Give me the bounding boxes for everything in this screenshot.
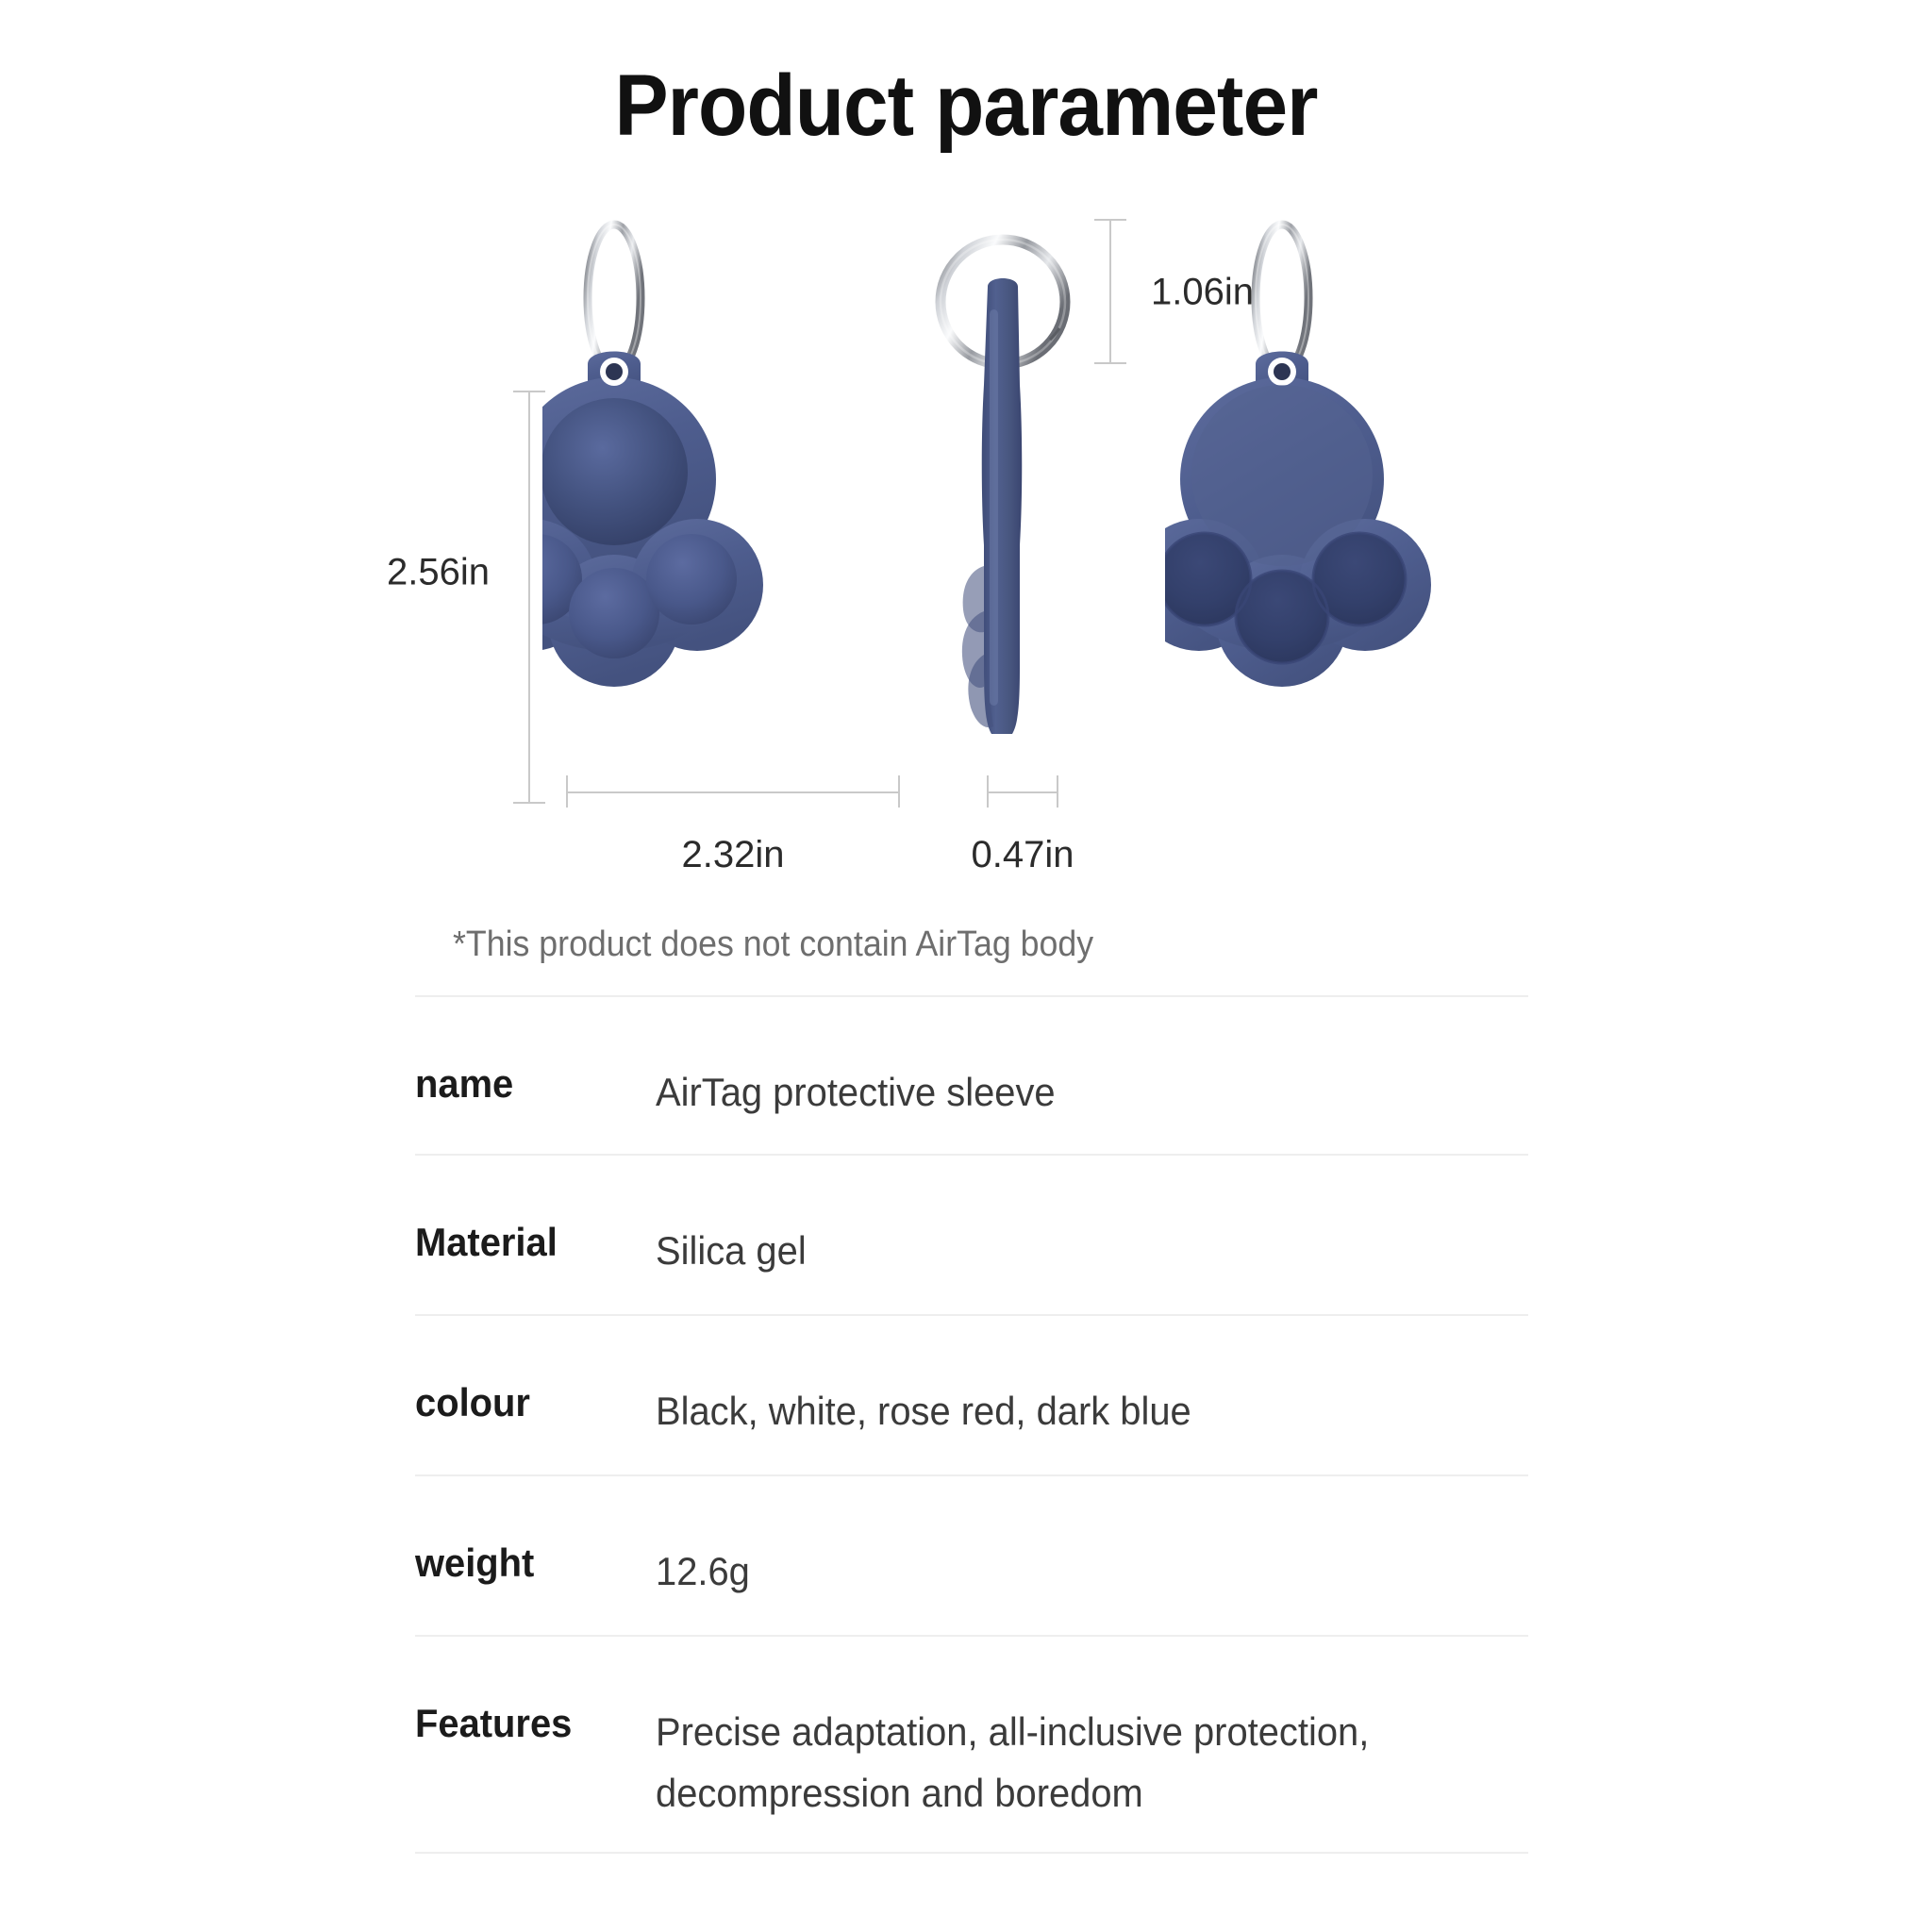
width-dim-label: 2.32in (682, 834, 785, 876)
case-profile-side (962, 278, 1022, 734)
spec-value-colour: Black, white, rose red, dark blue (656, 1316, 1485, 1441)
toe-bubble-center-front (569, 568, 659, 658)
table-row: Material Silica gel (415, 1156, 1528, 1316)
page-title: Product parameter (68, 58, 1865, 154)
spec-key-material: Material (415, 1156, 643, 1265)
ring-dim-line (1109, 219, 1111, 364)
disclaimer-text: *This product does not contain AirTag bo… (453, 924, 1093, 965)
height-dim-line (528, 391, 530, 804)
table-row: Features Precise adaptation, all-inclusi… (415, 1637, 1528, 1854)
thickness-dim-line (987, 791, 1058, 793)
spec-value-features: Precise adaptation, all-inclusive protec… (656, 1637, 1485, 1824)
spec-key-features: Features (415, 1637, 643, 1746)
spec-value-name: AirTag protective sleeve (656, 997, 1485, 1123)
width-dim-line (566, 791, 900, 793)
back-view (1165, 196, 1561, 857)
spec-value-weight: 12.6g (656, 1476, 1485, 1602)
table-row: colour Black, white, rose red, dark blue (415, 1316, 1528, 1476)
spec-value-material: Silica gel (656, 1156, 1485, 1281)
height-dim-label: 2.56in (387, 552, 490, 594)
height-dim-cap-bottom (513, 802, 545, 804)
front-view (542, 196, 939, 857)
main-bubble-front (542, 398, 688, 545)
thickness-dim-label: 0.47in (972, 834, 1074, 876)
product-parameter-page: Product parameter 2.56in (0, 0, 1932, 1932)
spec-key-name: name (415, 997, 643, 1107)
ring-dim-cap-bottom (1094, 362, 1126, 364)
spec-key-weight: weight (415, 1476, 643, 1586)
thickness-dim-cap-right (1057, 775, 1058, 808)
spec-table: name AirTag protective sleeve Material S… (415, 995, 1528, 1854)
toe-bubble-right-front (646, 534, 737, 625)
table-row: weight 12.6g (415, 1476, 1528, 1637)
spec-key-colour: colour (415, 1316, 643, 1425)
product-figure: 2.56in (0, 236, 1932, 896)
table-row: name AirTag protective sleeve (415, 995, 1528, 1156)
side-view (929, 196, 1156, 857)
width-dim-cap-right (898, 775, 900, 808)
